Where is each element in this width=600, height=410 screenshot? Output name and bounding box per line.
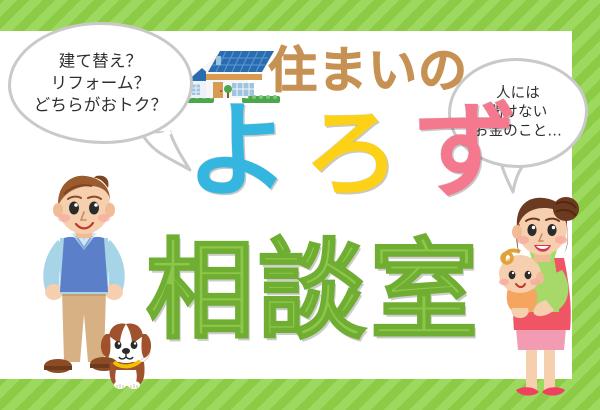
title-kana-2: ろ (304, 110, 400, 198)
title-kana-1: よ (186, 104, 290, 200)
question-bubble-left: 建て替え？ リフォーム？ どちらがおトク？ (8, 22, 193, 144)
title-kana-3: ず (414, 104, 518, 200)
title-subline: 住まいの (268, 46, 468, 95)
title-kana-row: よ ろ ず (186, 104, 518, 200)
title-kanji-3: 室 (370, 238, 478, 346)
woman-with-baby-illustration (486, 196, 592, 410)
title-kanji-row: 相 談 室 (146, 238, 478, 346)
title-kanji-2: 談 (258, 238, 366, 346)
title-kanji-1: 相 (146, 238, 254, 346)
poster-canvas: 建て替え？ リフォーム？ どちらがおトク？ 人には 聞けない お金のこと… 住ま… (0, 0, 600, 410)
dog-illustration (96, 318, 158, 395)
question-bubble-left-text: 建て替え？ リフォーム？ どちらがおトク？ (11, 50, 190, 115)
